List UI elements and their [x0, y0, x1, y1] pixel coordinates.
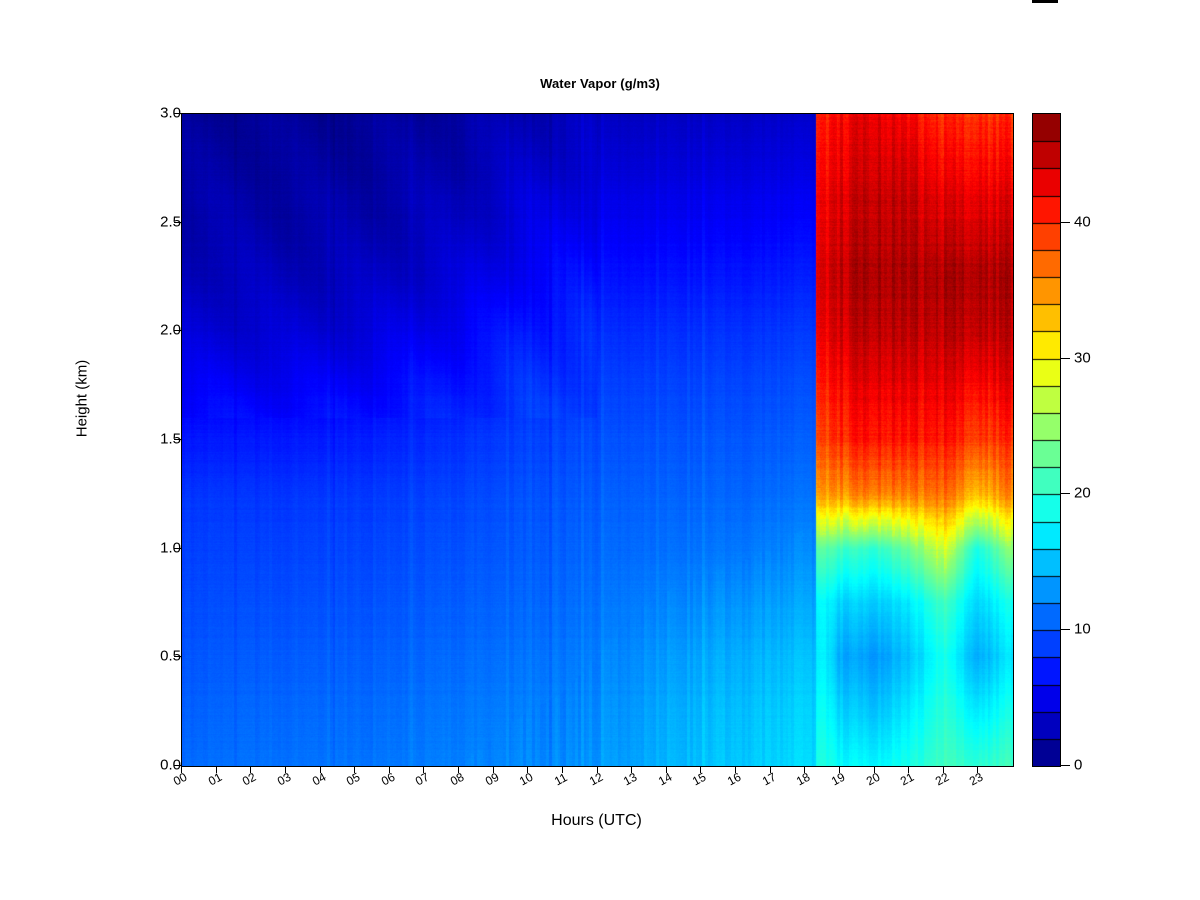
- x-tick-label: 22: [933, 770, 951, 789]
- x-tick-label: 13: [621, 770, 639, 789]
- x-tick-label: 19: [829, 770, 847, 789]
- x-tick-label: 10: [517, 770, 535, 789]
- x-tick-label: 12: [587, 770, 605, 789]
- colorbar: 010203040: [1032, 113, 1152, 765]
- x-tick-label: 04: [310, 770, 328, 789]
- x-tick-label: 05: [344, 770, 362, 789]
- x-tick-label: 11: [552, 770, 570, 788]
- colorbar-tick-label: 20: [1074, 485, 1091, 502]
- y-axis-ticks: 0.00.51.01.52.02.53.0: [128, 113, 181, 765]
- y-axis-title: Height (km): [74, 309, 91, 489]
- x-tick-label: 01: [206, 770, 224, 789]
- colorbar-tick-mark: [1061, 493, 1070, 494]
- colorbar-tick-mark: [1061, 358, 1070, 359]
- x-tick-label: 18: [794, 770, 812, 789]
- heatmap-plot-area: [181, 113, 1014, 767]
- colorbar-tick-label: 0: [1074, 757, 1082, 774]
- colorbar-tick-mark: [1061, 629, 1070, 630]
- x-tick-label: 02: [240, 770, 258, 789]
- x-tick-label: 23: [967, 770, 985, 789]
- y-tick-label: 1.0: [135, 539, 181, 556]
- colorbar-tick-mark: [1061, 222, 1070, 223]
- x-tick-label: 15: [690, 770, 708, 789]
- x-tick-label: 21: [898, 770, 916, 789]
- colorbar-tick-mark: [1061, 765, 1070, 766]
- heatmap-image: [182, 114, 1013, 766]
- x-tick-label: 17: [760, 770, 778, 789]
- y-tick-label: 2.5: [135, 213, 181, 230]
- y-tick-label: 2.0: [135, 322, 181, 339]
- x-tick-label: 06: [379, 770, 397, 789]
- x-tick-label: 08: [448, 770, 466, 789]
- x-tick-label: 07: [413, 770, 431, 789]
- x-tick-label: 09: [483, 770, 501, 789]
- top-edge-artifact-bar: [1032, 0, 1058, 3]
- colorbar-gradient: [1032, 113, 1061, 767]
- colorbar-tick-label: 40: [1074, 213, 1091, 230]
- x-tick-label: 16: [725, 770, 743, 789]
- colorbar-tick-label: 30: [1074, 349, 1091, 366]
- y-tick-label: 3.0: [135, 105, 181, 122]
- y-tick-label: 1.5: [135, 431, 181, 448]
- y-tick-label: 0.0: [135, 757, 181, 774]
- x-tick-label: 03: [275, 770, 293, 789]
- x-tick-label: 20: [864, 770, 882, 789]
- figure-canvas: Water Vapor (g/m3) Height (km) 0.00.51.0…: [0, 0, 1200, 900]
- x-tick-label: 14: [656, 770, 674, 789]
- colorbar-tick-label: 10: [1074, 621, 1091, 638]
- y-tick-label: 0.5: [135, 648, 181, 665]
- x-axis-title: Hours (UTC): [181, 812, 1012, 830]
- chart-title: Water Vapor (g/m3): [0, 76, 1200, 91]
